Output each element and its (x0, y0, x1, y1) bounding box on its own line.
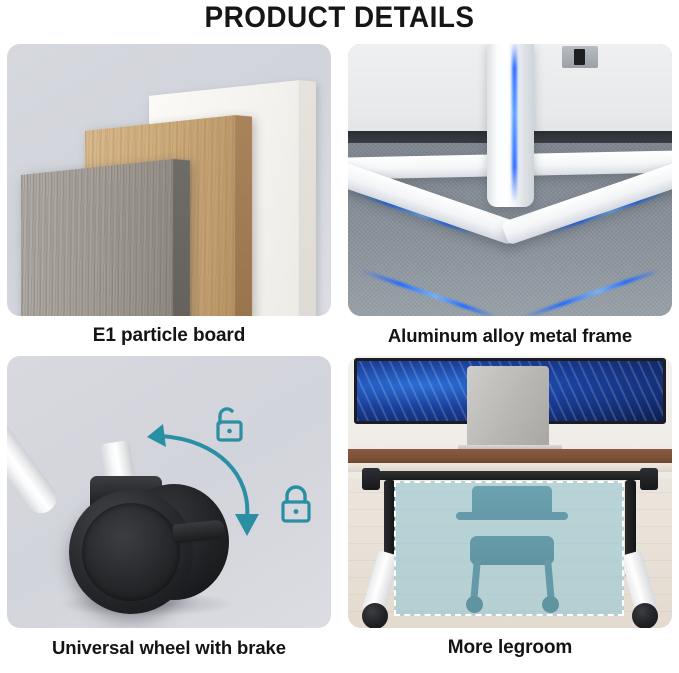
laptop (467, 366, 549, 447)
gray-board-edge (173, 159, 190, 316)
caption-metal-frame: Aluminum alloy metal frame (348, 316, 672, 356)
oak-board-edge (235, 115, 252, 316)
desk-caster-left (362, 603, 388, 628)
detail-card-universal-wheel: Universal wheel with brake (7, 356, 331, 668)
gray-board-face (21, 159, 173, 316)
caption-particle-board: E1 particle board (7, 316, 331, 356)
product-details-page: PRODUCT DETAILS E1 particle board (0, 0, 679, 673)
particle-board-photo (7, 44, 331, 316)
white-board-edge (299, 80, 316, 316)
frame-vertical-post (487, 44, 534, 207)
metal-frame-photo (348, 44, 672, 316)
wall-outlet (562, 46, 598, 68)
desk-top-surface (348, 449, 672, 464)
desk-caster-right (632, 603, 658, 628)
gray-board (21, 159, 173, 316)
lock-icon (275, 483, 317, 527)
desk-under-rail (370, 471, 650, 480)
desk-rail-bracket-left (362, 468, 380, 490)
unlock-icon (207, 403, 249, 445)
more-legroom-photo (348, 356, 672, 628)
caption-universal-wheel: Universal wheel with brake (7, 628, 331, 668)
detail-card-more-legroom: More legroom (348, 356, 672, 668)
universal-wheel-photo (7, 356, 331, 628)
detail-card-particle-board: E1 particle board (7, 44, 331, 356)
post-blue-highlight (512, 44, 517, 202)
page-title: PRODUCT DETAILS (24, 1, 655, 35)
detail-card-metal-frame: Aluminum alloy metal frame (348, 44, 672, 356)
legroom-highlight-zone (394, 481, 624, 616)
wheel-leg-tube-upper (7, 372, 62, 519)
desk-rail-bracket-right (640, 468, 658, 490)
details-grid: E1 particle board Aluminum alloy metal f… (7, 44, 672, 668)
caption-more-legroom: More legroom (348, 628, 672, 668)
